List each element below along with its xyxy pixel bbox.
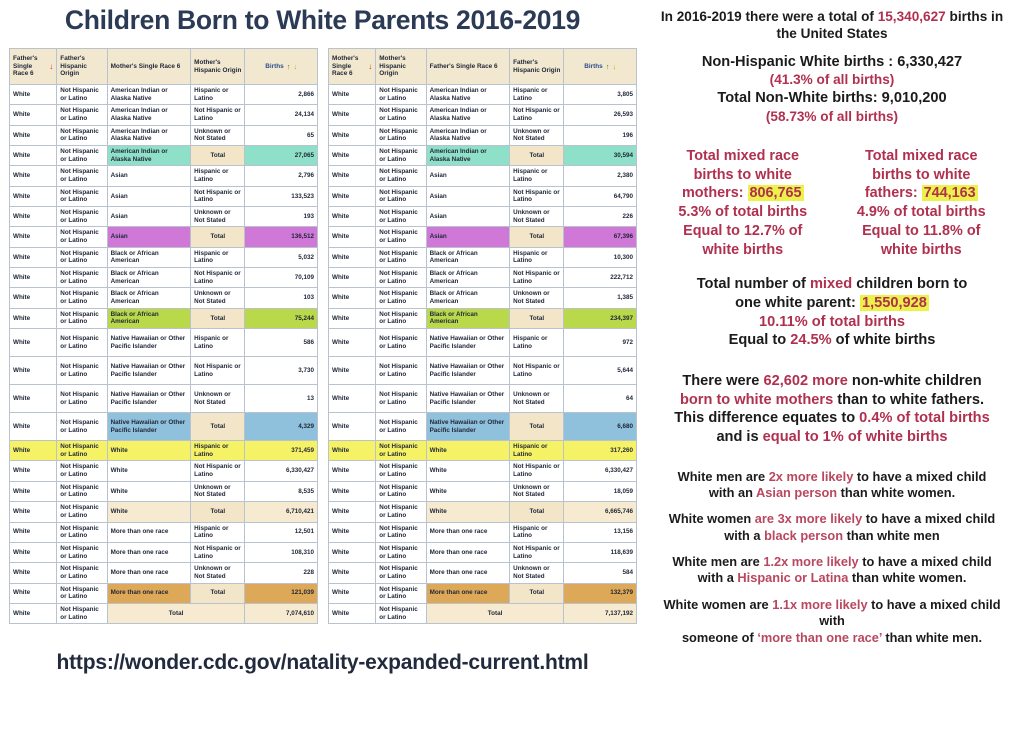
left-pane: Children Born to White Parents 2016-2019…: [0, 0, 645, 742]
cell-other-parent-hispanic-origin: Not Hispanic or Latino: [510, 105, 564, 125]
table-row: WhiteNot Hispanic or LatinoBlack or Afri…: [10, 247, 318, 267]
cell-parent-hispanic-origin: Not Hispanic or Latino: [57, 385, 107, 413]
table-row: WhiteNot Hispanic or LatinoBlack or Afri…: [10, 288, 318, 308]
cell-parent-hispanic-origin: Not Hispanic or Latino: [376, 329, 426, 357]
cell-parent-hispanic-origin: Not Hispanic or Latino: [376, 247, 426, 267]
cell-other-parent-hispanic-origin: Hispanic or Latino: [191, 522, 245, 542]
mother-table-body: WhiteNot Hispanic or LatinoAmerican Indi…: [329, 85, 637, 624]
cell-births-value: 64,790: [564, 186, 637, 206]
table-row: WhiteNot Hispanic or LatinoWhiteUnknown …: [329, 481, 637, 501]
fact-asian-with: with an: [709, 485, 756, 500]
difference-fathers: than to white fathers.: [833, 392, 984, 408]
cell-parent-hispanic-origin: Not Hispanic or Latino: [57, 481, 107, 501]
sort-descending-icon[interactable]: ↓: [293, 63, 297, 71]
cell-parent-hispanic-origin: Not Hispanic or Latino: [57, 413, 107, 441]
cell-other-parent-hispanic-origin: Not Hispanic or Latino: [191, 461, 245, 481]
fact-multirace-suffix: than white men.: [882, 630, 982, 645]
cell-parent-race: White: [10, 166, 57, 186]
sort-descending-icon[interactable]: ↓: [49, 63, 53, 71]
difference-equates-prefix: This difference equates to: [674, 410, 859, 426]
cell-parent-race: White: [329, 329, 376, 357]
column-header-mothers-hispanic-origin[interactable]: Mother's Hispanic Origin: [376, 49, 426, 85]
cell-other-parent-hispanic-origin: Hispanic or Latino: [191, 441, 245, 461]
cell-parent-race: White: [329, 461, 376, 481]
table-row: WhiteNot Hispanic or LatinoMore than one…: [329, 542, 637, 562]
fact-asian-mid: to have a mixed child: [853, 469, 986, 484]
cell-births-value: 10,300: [564, 247, 637, 267]
mixed-pct-white-suffix: of white births: [832, 332, 936, 348]
table-row: WhiteNot Hispanic or LatinoNative Hawaii…: [10, 413, 318, 441]
cell-other-parent-hispanic-origin: Not Hispanic or Latino: [191, 186, 245, 206]
cell-parent-hispanic-origin: Not Hispanic or Latino: [376, 146, 426, 166]
cell-other-parent-race: Black or African American: [107, 308, 191, 328]
cell-other-parent-race: White: [107, 441, 191, 461]
mixed-to-white-fathers-block: Total mixed race births to white fathers…: [836, 147, 1008, 259]
cell-other-parent-hispanic-origin: Total: [510, 413, 564, 441]
difference-line-3: This difference equates to 0.4% of total…: [651, 409, 1013, 428]
fact-black-line-1: White women are 3x more likely to have a…: [651, 511, 1013, 527]
mixed-prefix: Total number of: [697, 276, 810, 292]
cell-other-parent-hispanic-origin: Unknown or Not Stated: [191, 385, 245, 413]
cell-parent-hispanic-origin: Not Hispanic or Latino: [57, 583, 107, 603]
cell-other-parent-race: Black or African American: [426, 308, 510, 328]
cell-other-parent-race: Native Hawaiian or Other Pacific Islande…: [107, 357, 191, 385]
table-row: WhiteNot Hispanic or LatinoBlack or Afri…: [329, 268, 637, 288]
cell-births-value: 108,310: [245, 542, 318, 562]
cell-other-parent-race: White: [426, 502, 510, 522]
fact-hispanic-with: with a: [698, 570, 738, 585]
cell-parent-race: White: [329, 247, 376, 267]
cell-other-parent-race: More than one race: [426, 542, 510, 562]
sort-ascending-icon[interactable]: ↑: [606, 63, 610, 71]
mothers-mixed-births-value: 806,765: [748, 185, 804, 201]
cell-other-parent-race: Native Hawaiian or Other Pacific Islande…: [107, 413, 191, 441]
cell-parent-hispanic-origin: Not Hispanic or Latino: [57, 247, 107, 267]
table-row: WhiteNot Hispanic or LatinoWhiteHispanic…: [329, 441, 637, 461]
table-row: WhiteNot Hispanic or LatinoMore than one…: [329, 563, 637, 583]
fact-hispanic-suffix: than white women.: [848, 570, 966, 585]
cell-other-parent-hispanic-origin: Total: [510, 308, 564, 328]
cell-other-parent-hispanic-origin: Total: [510, 502, 564, 522]
fact-black-group: black person: [764, 528, 843, 543]
cell-parent-race: White: [10, 125, 57, 145]
cell-parent-race: White: [329, 542, 376, 562]
column-header-mothers-race[interactable]: Mother's Single Race 6: [107, 49, 191, 85]
table-row: WhiteNot Hispanic or LatinoWhiteNot Hisp…: [10, 461, 318, 481]
cell-parent-hispanic-origin: Not Hispanic or Latino: [376, 481, 426, 501]
cell-parent-hispanic-origin: Not Hispanic or Latino: [57, 146, 107, 166]
sort-descending-icon[interactable]: ↓: [368, 63, 372, 71]
cell-parent-race: White: [10, 329, 57, 357]
column-header-label: Births: [584, 63, 602, 71]
table-row: WhiteNot Hispanic or LatinoAmerican Indi…: [329, 105, 637, 125]
cell-parent-race: White: [329, 413, 376, 441]
cell-parent-hispanic-origin: Not Hispanic or Latino: [57, 125, 107, 145]
cell-parent-hispanic-origin: Not Hispanic or Latino: [376, 502, 426, 522]
cell-parent-hispanic-origin: Not Hispanic or Latino: [376, 288, 426, 308]
cell-births-value: 584: [564, 563, 637, 583]
cell-other-parent-hispanic-origin: Total: [510, 227, 564, 247]
cell-other-parent-race: More than one race: [426, 522, 510, 542]
table-row: WhiteNot Hispanic or LatinoAsianNot Hisp…: [329, 186, 637, 206]
difference-value: 62,602 more: [763, 373, 847, 389]
cell-other-parent-hispanic-origin: Unknown or Not Stated: [191, 207, 245, 227]
table-row: WhiteNot Hispanic or LatinoNative Hawaii…: [329, 385, 637, 413]
cell-parent-hispanic-origin: Not Hispanic or Latino: [376, 603, 426, 623]
cell-parent-hispanic-origin: Not Hispanic or Latino: [376, 125, 426, 145]
sort-ascending-icon[interactable]: ↑: [287, 63, 291, 71]
nonwhite-births: Total Non-White births: 9,010,200: [651, 89, 1013, 108]
table-row: WhiteNot Hispanic or LatinoAmerican Indi…: [10, 105, 318, 125]
fact-black-with: with a: [724, 528, 764, 543]
cell-other-parent-hispanic-origin: Hispanic or Latino: [191, 85, 245, 105]
cell-births-value: 2,796: [245, 166, 318, 186]
cell-other-parent-race: More than one race: [107, 583, 191, 603]
grand-total-row: WhiteNot Hispanic or LatinoTotal7,074,61…: [10, 603, 318, 623]
cell-other-parent-race: More than one race: [107, 563, 191, 583]
cell-parent-race: White: [10, 227, 57, 247]
cell-births-value: 133,523: [245, 186, 318, 206]
cell-other-parent-race: American Indian or Alaska Native: [426, 85, 510, 105]
source-url[interactable]: https://wonder.cdc.gov/natality-expanded…: [0, 651, 645, 675]
grand-total-label: Total: [426, 603, 564, 623]
cell-other-parent-hispanic-origin: Unknown or Not Stated: [510, 125, 564, 145]
table-header-row: Mother's Single Race 6 ↓ Mother's Hispan…: [329, 49, 637, 85]
cell-other-parent-hispanic-origin: Not Hispanic or Latino: [191, 105, 245, 125]
table-row: WhiteNot Hispanic or LatinoWhiteNot Hisp…: [329, 461, 637, 481]
summary-pane: In 2016-2019 there were a total of 15,34…: [645, 0, 1019, 742]
cell-parent-hispanic-origin: Not Hispanic or Latino: [57, 603, 107, 623]
cell-other-parent-race: White: [426, 481, 510, 501]
cell-births-value: 3,805: [564, 85, 637, 105]
cell-parent-race: White: [10, 413, 57, 441]
cell-other-parent-hispanic-origin: Total: [510, 146, 564, 166]
cell-parent-hispanic-origin: Not Hispanic or Latino: [376, 542, 426, 562]
column-header-mothers-hispanic-origin[interactable]: Mother's Hispanic Origin: [191, 49, 245, 85]
table-row: WhiteNot Hispanic or LatinoMore than one…: [10, 542, 318, 562]
column-header-births[interactable]: Births ↑ ↓: [245, 49, 318, 85]
mother-table-header: Mother's Single Race 6 ↓ Mother's Hispan…: [329, 49, 637, 85]
table-row: WhiteNot Hispanic or LatinoAsianNot Hisp…: [10, 186, 318, 206]
difference-mothers: born to white mothers: [680, 392, 833, 408]
cell-parent-race: White: [329, 166, 376, 186]
cell-births-value: 24,134: [245, 105, 318, 125]
fathers-pct-white-1: Equal to 11.8% of: [836, 222, 1008, 241]
fact-asian-line-2: with an Asian person than white women.: [651, 485, 1013, 501]
cell-parent-hispanic-origin: Not Hispanic or Latino: [376, 227, 426, 247]
total-births-prefix: In 2016-2019 there were a total of: [661, 9, 878, 24]
fact-black-multiplier: are 3x more likely: [755, 511, 862, 526]
column-header-fathers-race[interactable]: Father's Single Race 6: [426, 49, 510, 85]
cell-other-parent-race: Native Hawaiian or Other Pacific Islande…: [426, 413, 510, 441]
table-row: WhiteNot Hispanic or LatinoBlack or Afri…: [329, 308, 637, 328]
cell-parent-hispanic-origin: Not Hispanic or Latino: [376, 461, 426, 481]
cell-other-parent-hispanic-origin: Not Hispanic or Latino: [191, 268, 245, 288]
cell-parent-race: White: [10, 268, 57, 288]
cell-births-value: 70,109: [245, 268, 318, 288]
cell-other-parent-race: White: [107, 502, 191, 522]
sort-descending-icon[interactable]: ↓: [612, 63, 616, 71]
cell-other-parent-race: Black or African American: [426, 288, 510, 308]
cell-other-parent-hispanic-origin: Unknown or Not Stated: [510, 481, 564, 501]
cell-births-value: 13,156: [564, 522, 637, 542]
fact-black-line-2: with a black person than white men: [651, 528, 1013, 544]
cell-other-parent-hispanic-origin: Hispanic or Latino: [510, 329, 564, 357]
cell-parent-race: White: [10, 85, 57, 105]
cell-births-value: 18,059: [564, 481, 637, 501]
cell-births-value: 136,512: [245, 227, 318, 247]
cell-other-parent-race: White: [426, 441, 510, 461]
table-row: WhiteNot Hispanic or LatinoMore than one…: [10, 563, 318, 583]
cell-other-parent-race: More than one race: [426, 583, 510, 603]
mixed-pct-total: 10.11% of total births: [651, 313, 1013, 332]
table-row: WhiteNot Hispanic or LatinoAmerican Indi…: [10, 146, 318, 166]
cell-other-parent-hispanic-origin: Hispanic or Latino: [510, 522, 564, 542]
cell-parent-race: White: [329, 481, 376, 501]
column-header-label: Births: [265, 63, 283, 71]
table-row: WhiteNot Hispanic or LatinoAmerican Indi…: [329, 146, 637, 166]
cell-other-parent-race: Asian: [426, 207, 510, 227]
cell-births-value: 6,330,427: [245, 461, 318, 481]
cell-births-value: 67,396: [564, 227, 637, 247]
cell-parent-race: White: [10, 461, 57, 481]
table-row: WhiteNot Hispanic or LatinoWhiteHispanic…: [10, 441, 318, 461]
table-row: WhiteNot Hispanic or LatinoMore than one…: [329, 522, 637, 542]
total-births-value: 15,340,627: [878, 9, 946, 24]
cell-parent-hispanic-origin: Not Hispanic or Latino: [57, 441, 107, 461]
cell-parent-hispanic-origin: Not Hispanic or Latino: [376, 413, 426, 441]
cell-parent-hispanic-origin: Not Hispanic or Latino: [57, 227, 107, 247]
cell-other-parent-race: More than one race: [107, 542, 191, 562]
column-header-fathers-hispanic-origin[interactable]: Father's Hispanic Origin: [57, 49, 107, 85]
cell-parent-race: White: [329, 268, 376, 288]
fact-multirace-line-2: someone of ‘more than one race’ than whi…: [651, 630, 1013, 646]
cell-parent-race: White: [329, 441, 376, 461]
cell-births-value: 196: [564, 125, 637, 145]
cell-other-parent-hispanic-origin: Unknown or Not Stated: [510, 288, 564, 308]
cell-other-parent-hispanic-origin: Hispanic or Latino: [191, 247, 245, 267]
cell-parent-hispanic-origin: Not Hispanic or Latino: [57, 522, 107, 542]
cell-births-value: 3,730: [245, 357, 318, 385]
cell-other-parent-hispanic-origin: Total: [191, 146, 245, 166]
cell-births-value: 8,535: [245, 481, 318, 501]
cell-parent-race: White: [10, 583, 57, 603]
fathers-pct-total: 4.9% of total births: [836, 203, 1008, 222]
fact-asian-line-1: White men are 2x more likely to have a m…: [651, 469, 1013, 485]
difference-line-4: and is equal to 1% of white births: [651, 428, 1013, 447]
table-row: WhiteNot Hispanic or LatinoNative Hawaii…: [10, 357, 318, 385]
cell-other-parent-race: American Indian or Alaska Native: [426, 105, 510, 125]
mixed-pct-white-value: 24.5%: [790, 332, 831, 348]
cell-parent-race: White: [329, 85, 376, 105]
cell-other-parent-race: Native Hawaiian or Other Pacific Islande…: [107, 329, 191, 357]
cell-births-value: 6,665,746: [564, 502, 637, 522]
cell-other-parent-hispanic-origin: Hispanic or Latino: [191, 329, 245, 357]
cell-other-parent-hispanic-origin: Hispanic or Latino: [510, 166, 564, 186]
cell-births-value: 103: [245, 288, 318, 308]
fact-multirace-group: ‘more than one race’: [757, 630, 881, 645]
table-row: WhiteNot Hispanic or LatinoWhiteTotal6,6…: [329, 502, 637, 522]
cell-parent-hispanic-origin: Not Hispanic or Latino: [376, 207, 426, 227]
father-table-header: Father's Single Race 6 ↓ Father's Hispan…: [10, 49, 318, 85]
table-row: WhiteNot Hispanic or LatinoMore than one…: [10, 583, 318, 603]
fact-multirace-with: someone of: [682, 630, 757, 645]
fact-black-mid: to have a mixed child: [862, 511, 995, 526]
cell-other-parent-race: Asian: [426, 166, 510, 186]
cell-births-value: 317,260: [564, 441, 637, 461]
mothers-line-1: Total mixed race: [657, 147, 829, 166]
table-row: WhiteNot Hispanic or LatinoAsianHispanic…: [10, 166, 318, 186]
cell-births-value: 5,032: [245, 247, 318, 267]
cell-other-parent-hispanic-origin: Hispanic or Latino: [510, 441, 564, 461]
table-row: WhiteNot Hispanic or LatinoMore than one…: [329, 583, 637, 603]
cell-parent-race: White: [10, 247, 57, 267]
cell-births-value: 4,329: [245, 413, 318, 441]
cell-parent-race: White: [10, 357, 57, 385]
total-births-line: In 2016-2019 there were a total of 15,34…: [651, 8, 1013, 25]
cell-births-value: 65: [245, 125, 318, 145]
cell-other-parent-hispanic-origin: Total: [510, 583, 564, 603]
cell-births-value: 132,379: [564, 583, 637, 603]
cell-other-parent-race: Asian: [107, 227, 191, 247]
tables-container: Father's Single Race 6 ↓ Father's Hispan…: [0, 48, 645, 624]
cell-births-value: 222,712: [564, 268, 637, 288]
cell-births-value: 30,594: [564, 146, 637, 166]
table-row: WhiteNot Hispanic or LatinoAsianUnknown …: [329, 207, 637, 227]
cell-births-value: 2,380: [564, 166, 637, 186]
difference-equates-value: 0.4% of total births: [859, 410, 990, 426]
fact-hispanic-prefix: White men are: [672, 554, 763, 569]
fact-asian-multiplier: 2x more likely: [769, 469, 854, 484]
cell-other-parent-hispanic-origin: Total: [191, 308, 245, 328]
column-header-fathers-hispanic-origin[interactable]: Father's Hispanic Origin: [510, 49, 564, 85]
table-row: WhiteNot Hispanic or LatinoNative Hawaii…: [329, 357, 637, 385]
cell-parent-race: White: [329, 603, 376, 623]
table-row: WhiteNot Hispanic or LatinoBlack or Afri…: [10, 308, 318, 328]
cell-parent-race: White: [10, 603, 57, 623]
table-row: WhiteNot Hispanic or LatinoMore than one…: [10, 522, 318, 542]
column-header-births[interactable]: Births ↑ ↓: [564, 49, 637, 85]
cell-parent-hispanic-origin: Not Hispanic or Latino: [57, 288, 107, 308]
cell-other-parent-hispanic-origin: Total: [191, 413, 245, 441]
table-row: WhiteNot Hispanic or LatinoAmerican Indi…: [329, 85, 637, 105]
cell-other-parent-hispanic-origin: Not Hispanic or Latino: [510, 542, 564, 562]
cell-other-parent-race: Asian: [426, 227, 510, 247]
cell-parent-race: White: [10, 105, 57, 125]
cell-other-parent-hispanic-origin: Hispanic or Latino: [191, 166, 245, 186]
cell-other-parent-hispanic-origin: Not Hispanic or Latino: [191, 357, 245, 385]
difference-equal-value: equal to 1% of white births: [763, 429, 948, 445]
cell-parent-hispanic-origin: Not Hispanic or Latino: [376, 186, 426, 206]
table-row: WhiteNot Hispanic or LatinoNative Hawaii…: [10, 329, 318, 357]
cell-births-value: 226: [564, 207, 637, 227]
one-white-parent-value: 1,550,928: [860, 295, 929, 311]
grand-total-label: Total: [107, 603, 245, 623]
cell-births-value: 234,397: [564, 308, 637, 328]
cell-parent-hispanic-origin: Not Hispanic or Latino: [57, 166, 107, 186]
cell-other-parent-race: Black or African American: [426, 268, 510, 288]
column-header-label: Mother's Single Race 6: [332, 55, 366, 78]
table-row: WhiteNot Hispanic or LatinoAmerican Indi…: [10, 85, 318, 105]
cell-births-value: 121,039: [245, 583, 318, 603]
cell-parent-hispanic-origin: Not Hispanic or Latino: [57, 563, 107, 583]
cell-parent-race: White: [329, 227, 376, 247]
mothers-value-line: mothers: 806,765: [657, 184, 829, 203]
cell-parent-hispanic-origin: Not Hispanic or Latino: [376, 385, 426, 413]
father-table-body: WhiteNot Hispanic or LatinoAmerican Indi…: [10, 85, 318, 624]
father-race-births-table: Father's Single Race 6 ↓ Father's Hispan…: [9, 48, 318, 624]
cell-parent-hispanic-origin: Not Hispanic or Latino: [376, 563, 426, 583]
cell-parent-hispanic-origin: Not Hispanic or Latino: [376, 357, 426, 385]
column-header-fathers-race[interactable]: Father's Single Race 6 ↓: [10, 49, 57, 85]
cell-parent-race: White: [329, 502, 376, 522]
cell-other-parent-race: American Indian or Alaska Native: [426, 125, 510, 145]
cell-parent-hispanic-origin: Not Hispanic or Latino: [57, 542, 107, 562]
mixed-to-white-mothers-block: Total mixed race births to white mothers…: [657, 147, 829, 259]
cell-other-parent-race: Black or African American: [107, 288, 191, 308]
fact-asian-suffix: than white women.: [837, 485, 955, 500]
table-row: WhiteNot Hispanic or LatinoNative Hawaii…: [10, 385, 318, 413]
cell-parent-hispanic-origin: Not Hispanic or Latino: [57, 186, 107, 206]
cell-parent-race: White: [329, 563, 376, 583]
mothers-pct-white-2: white births: [657, 241, 829, 260]
cell-other-parent-hispanic-origin: Hispanic or Latino: [510, 85, 564, 105]
cell-parent-hispanic-origin: Not Hispanic or Latino: [57, 308, 107, 328]
cell-births-value: 193: [245, 207, 318, 227]
cell-other-parent-race: White: [107, 461, 191, 481]
cell-parent-hispanic-origin: Not Hispanic or Latino: [376, 268, 426, 288]
fact-black-suffix: than white men: [843, 528, 940, 543]
mother-race-births-table: Mother's Single Race 6 ↓ Mother's Hispan…: [328, 48, 637, 624]
fact-asian-group: Asian person: [756, 485, 837, 500]
total-births-suffix: births in: [946, 9, 1003, 24]
table-row: WhiteNot Hispanic or LatinoBlack or Afri…: [10, 268, 318, 288]
mothers-pct-white-1: Equal to 12.7% of: [657, 222, 829, 241]
cell-other-parent-hispanic-origin: Not Hispanic or Latino: [510, 268, 564, 288]
cell-births-value: 6,330,427: [564, 461, 637, 481]
column-header-mothers-race[interactable]: Mother's Single Race 6 ↓: [329, 49, 376, 85]
fathers-value-label: fathers:: [865, 185, 922, 201]
cell-parent-race: White: [329, 522, 376, 542]
cell-births-value: 64: [564, 385, 637, 413]
table-row: WhiteNot Hispanic or LatinoAsianUnknown …: [10, 207, 318, 227]
cell-other-parent-hispanic-origin: Hispanic or Latino: [510, 247, 564, 267]
page-title: Children Born to White Parents 2016-2019: [0, 0, 645, 35]
cell-births-value: 13: [245, 385, 318, 413]
cell-parent-race: White: [10, 308, 57, 328]
cell-parent-hispanic-origin: Not Hispanic or Latino: [57, 461, 107, 481]
mixed-race-comparison: Total mixed race births to white mothers…: [651, 147, 1013, 259]
cell-other-parent-hispanic-origin: Not Hispanic or Latino: [191, 542, 245, 562]
cell-other-parent-race: Asian: [107, 166, 191, 186]
cell-parent-hispanic-origin: Not Hispanic or Latino: [376, 583, 426, 603]
cell-other-parent-race: Native Hawaiian or Other Pacific Islande…: [107, 385, 191, 413]
difference-children: children: [921, 373, 982, 389]
cell-parent-hispanic-origin: Not Hispanic or Latino: [376, 308, 426, 328]
fathers-line-2: births to white: [836, 166, 1008, 185]
table-row: WhiteNot Hispanic or LatinoBlack or Afri…: [329, 247, 637, 267]
table-row: WhiteNot Hispanic or LatinoAsianHispanic…: [329, 166, 637, 186]
mixed-pct-white: Equal to 24.5% of white births: [651, 331, 1013, 350]
table-row: WhiteNot Hispanic or LatinoAsianTotal67,…: [329, 227, 637, 247]
fathers-value-line: fathers: 744,163: [836, 184, 1008, 203]
cell-other-parent-race: American Indian or Alaska Native: [107, 85, 191, 105]
fact-hispanic-group: Hispanic or Latina: [737, 570, 848, 585]
cell-births-value: 5,644: [564, 357, 637, 385]
cell-parent-race: White: [10, 186, 57, 206]
cell-parent-hispanic-origin: Not Hispanic or Latino: [57, 357, 107, 385]
cell-other-parent-hispanic-origin: Unknown or Not Stated: [510, 563, 564, 583]
